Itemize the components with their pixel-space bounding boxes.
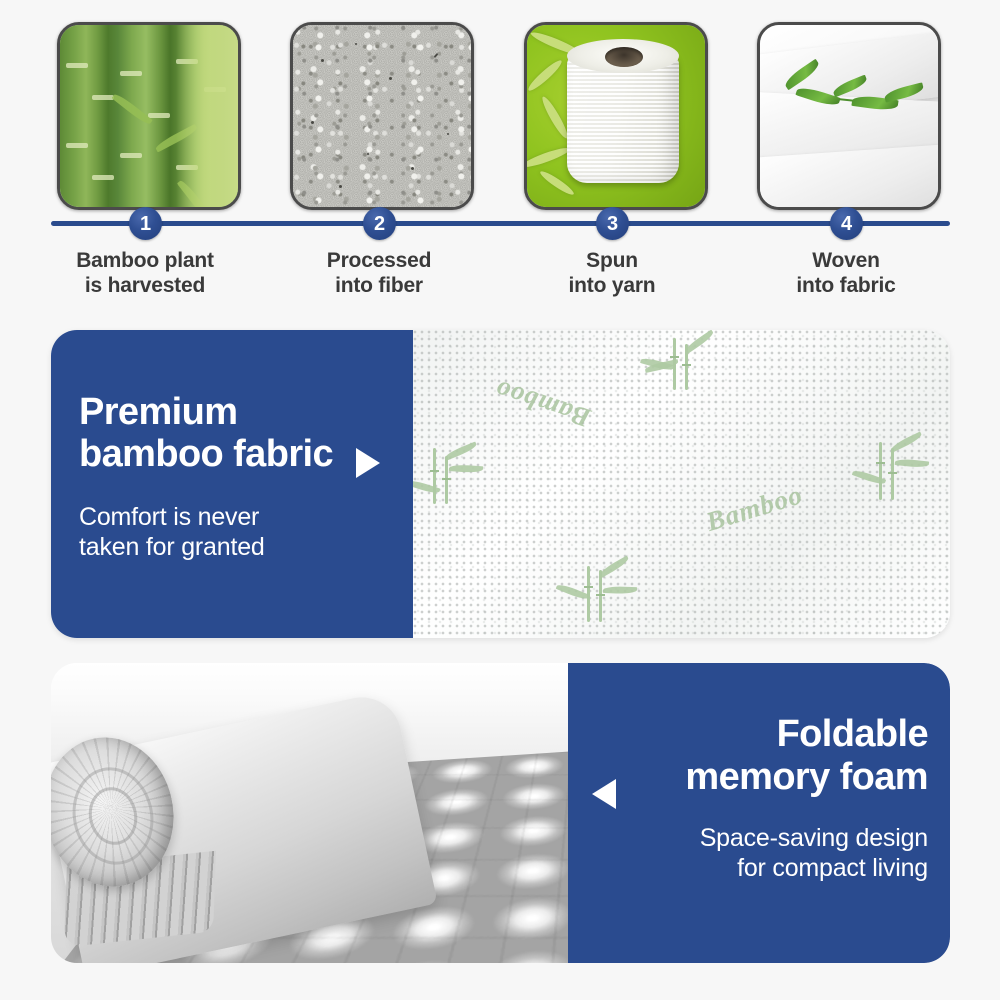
step-number-3-value: 3 [607, 214, 618, 234]
bamboo-knit-fabric-closeup: Bamboo Bamboo [413, 330, 950, 638]
step-number-4: 4 [830, 207, 863, 240]
foam-headline-line2: memory foam [685, 756, 928, 799]
step-number-1-value: 1 [140, 214, 151, 234]
step-number-2-value: 2 [374, 214, 385, 234]
step-label-1: Bamboo plant is harvested [25, 249, 265, 299]
process-timeline-line [51, 221, 950, 226]
fabric-subline: Comfort is never taken for granted [79, 502, 265, 562]
foam-text-block: Foldable memory foam Space-saving design… [568, 663, 950, 963]
step-label-3-line1: Spun [492, 249, 732, 274]
step-label-4: Woven into fabric [726, 249, 966, 299]
fabric-headline: Premium bamboo fabric [79, 392, 333, 476]
triangle-left-icon [592, 779, 616, 809]
step-label-4-line1: Woven [726, 249, 966, 274]
fabric-watermark-bamboo-2: Bamboo [703, 479, 807, 538]
step-label-3-line2: into yarn [492, 274, 732, 299]
step-number-1: 1 [129, 207, 162, 240]
yarn-spool-photo [527, 25, 705, 207]
triangle-right-icon [356, 448, 380, 478]
step-image-bamboo-plant [57, 22, 241, 210]
bamboo-process-section: 1 2 3 4 Bamboo plant is harvested Proces… [0, 0, 1000, 310]
bottom-fade [0, 974, 1000, 1000]
memory-foam-panel: Foldable memory foam Space-saving design… [51, 663, 950, 963]
step-image-processed-fiber [290, 22, 474, 210]
foam-subline-line2: for compact living [700, 853, 928, 883]
step-label-2-line2: into fiber [259, 274, 499, 299]
bamboo-fabric-panel: Bamboo Bamboo [51, 330, 950, 638]
step-number-3: 3 [596, 207, 629, 240]
foam-headline-line1: Foldable [685, 713, 928, 756]
step-label-2-line1: Processed [259, 249, 499, 274]
step-image-woven-fabric [757, 22, 941, 210]
white-woven-fabric-photo [760, 25, 938, 207]
step-label-1-line2: is harvested [25, 274, 265, 299]
step-label-1-line1: Bamboo plant [25, 249, 265, 274]
process-thumbnail-row [0, 22, 1000, 204]
foam-headline: Foldable memory foam [685, 713, 928, 798]
foam-subline: Space-saving design for compact living [700, 823, 928, 883]
fabric-watermark-bamboo-1: Bamboo [491, 373, 595, 433]
fabric-text-block: Premium bamboo fabric Comfort is never t… [51, 330, 413, 638]
step-label-3: Spun into yarn [492, 249, 732, 299]
fabric-subline-line1: Comfort is never [79, 502, 265, 532]
step-label-2: Processed into fiber [259, 249, 499, 299]
step-image-spun-yarn [524, 22, 708, 210]
foam-subline-line1: Space-saving design [700, 823, 928, 853]
fabric-subline-line2: taken for granted [79, 532, 265, 562]
fabric-headline-line1: Premium [79, 392, 333, 434]
bamboo-fiber-texture-photo [293, 25, 471, 207]
step-label-4-line2: into fabric [726, 274, 966, 299]
step-number-2: 2 [363, 207, 396, 240]
bamboo-forest-photo [60, 25, 238, 207]
step-number-4-value: 4 [841, 214, 852, 234]
fabric-headline-line2: bamboo fabric [79, 434, 333, 476]
